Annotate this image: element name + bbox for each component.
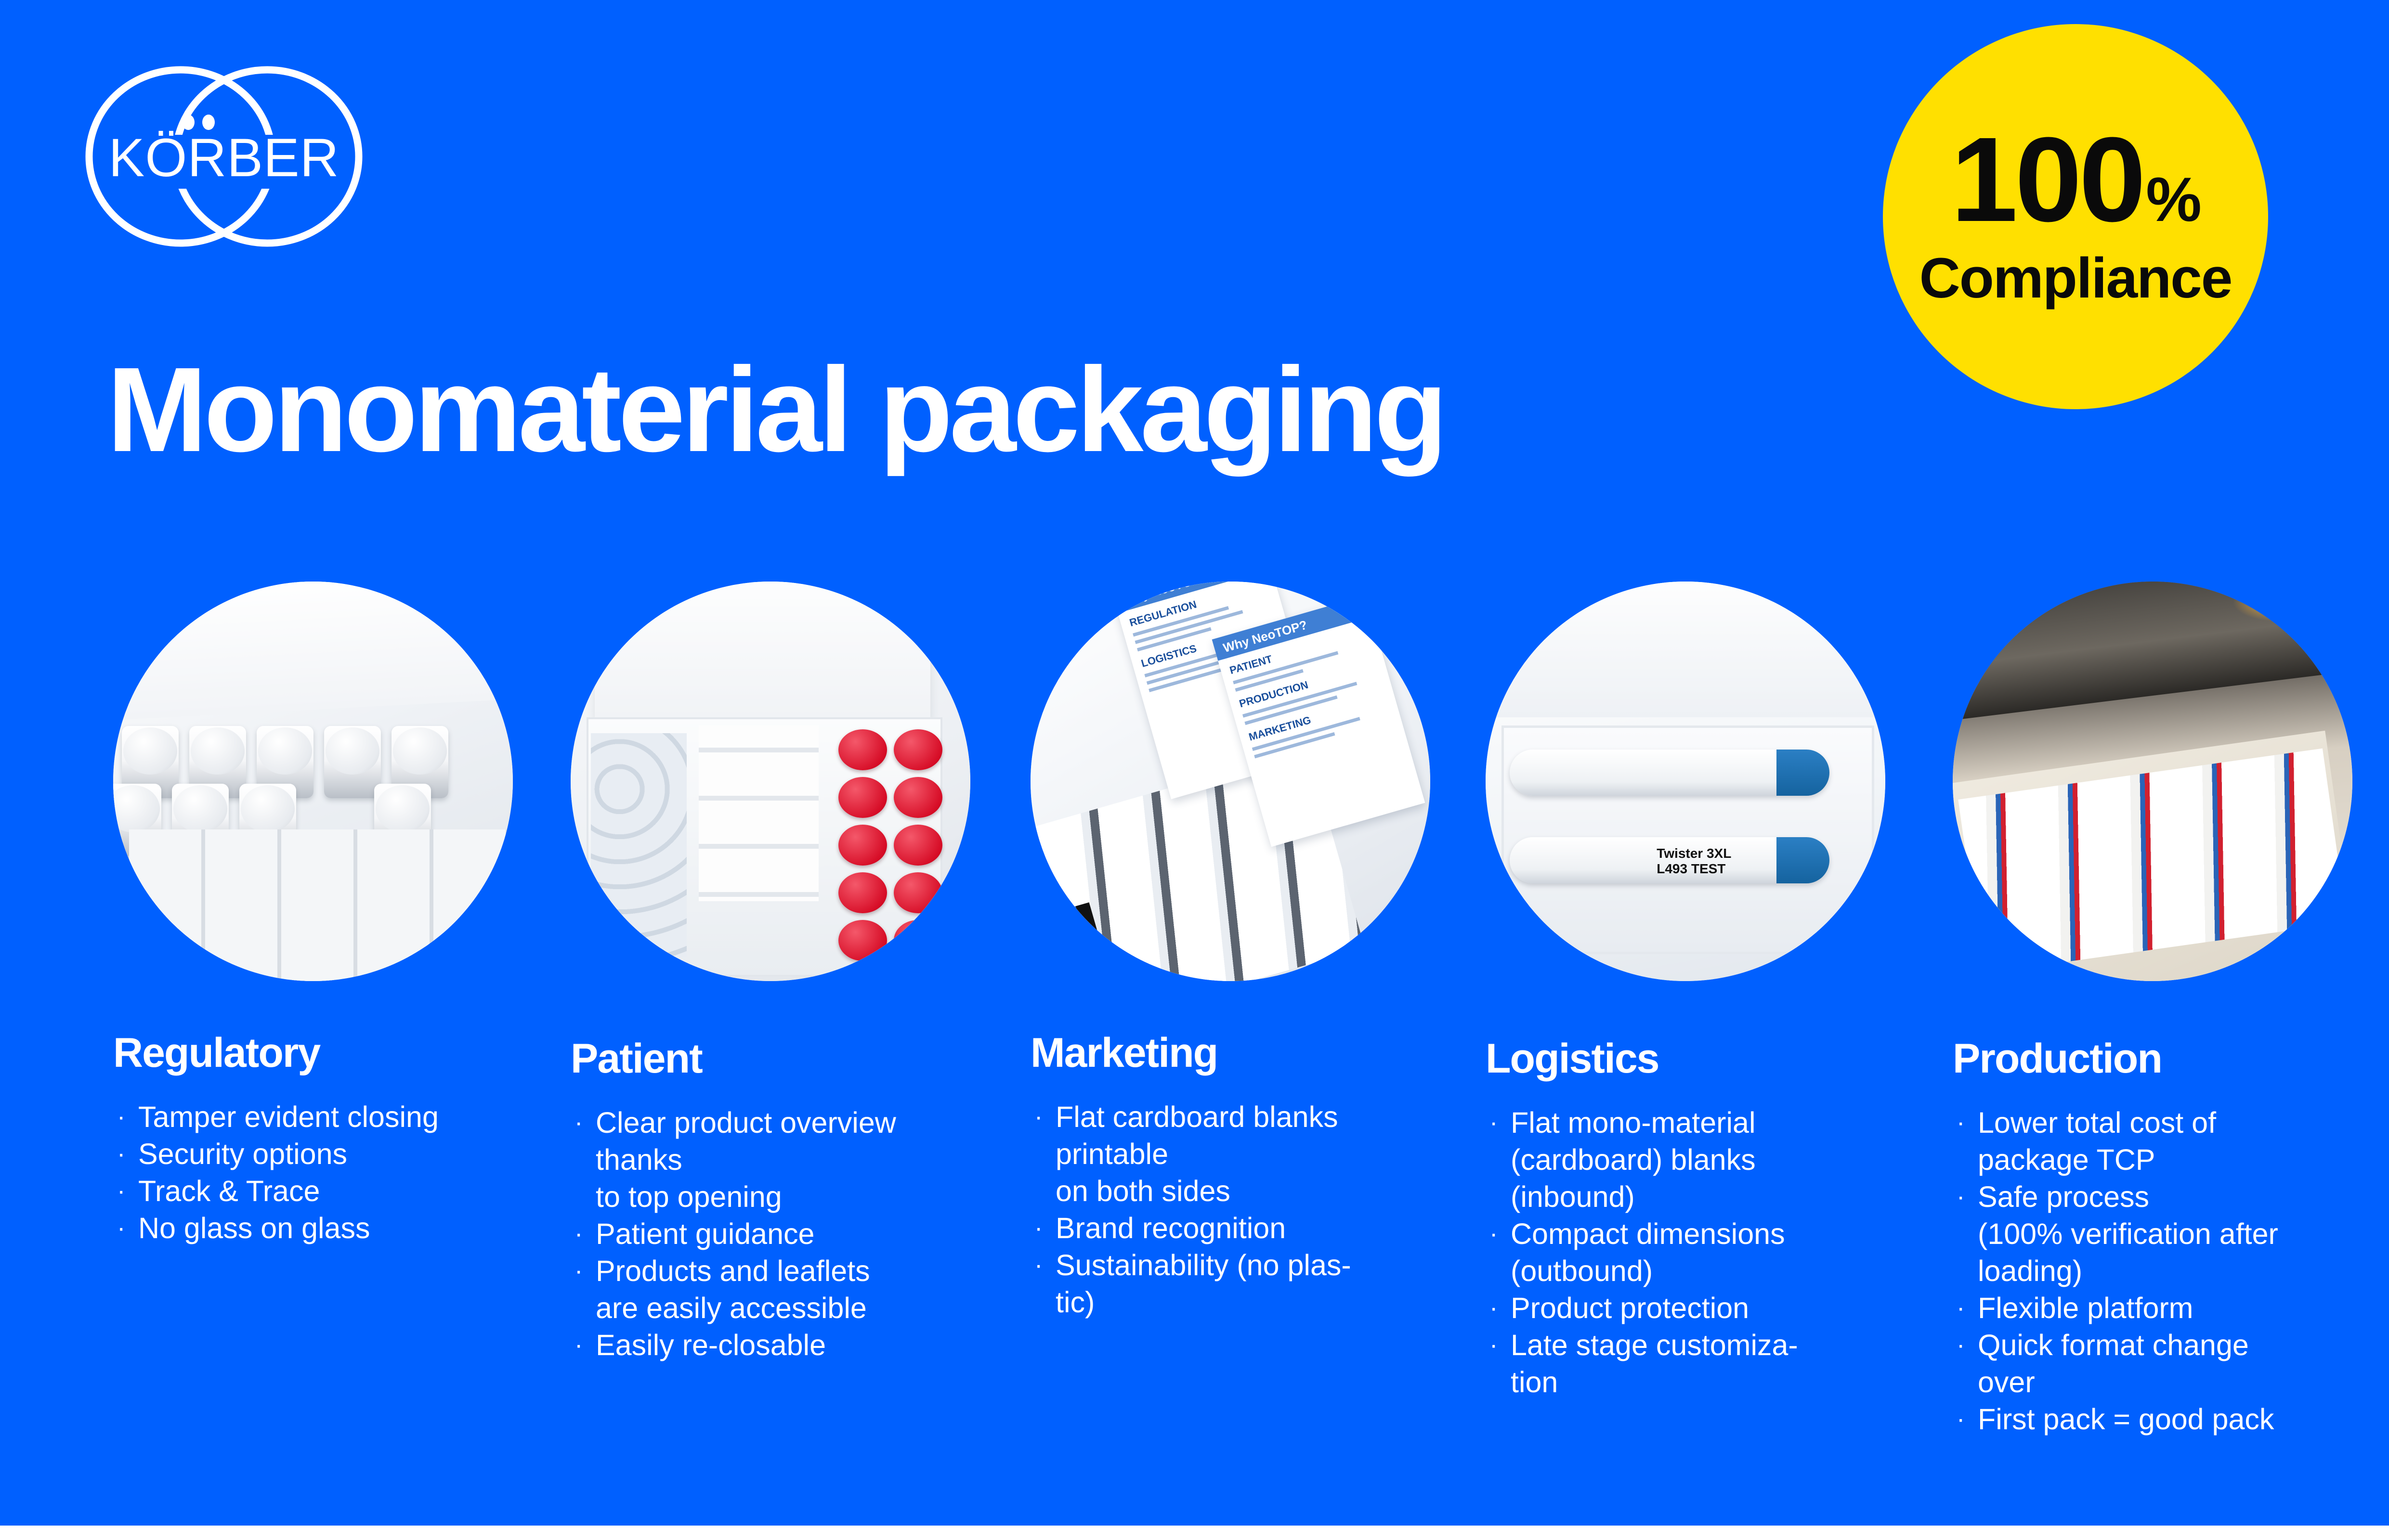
bullet-dot-icon: ·: [574, 1216, 583, 1253]
list-item-text: Products and leaflets are easily accessi…: [596, 1253, 985, 1327]
list-item: ·Flat cardboard blanks printable on both…: [1031, 1099, 1445, 1210]
bullet-dot-icon: ·: [1489, 1327, 1498, 1364]
list-item-text: Product protection: [1511, 1290, 1900, 1327]
list-item-text: Flexible platform: [1978, 1290, 2386, 1327]
blister-discs: [591, 733, 687, 957]
red-cap: [838, 872, 887, 913]
photo-printed-leaflet-box: Why NeoTOP? REGULATION LOGISTICS Why Neo…: [1031, 582, 1430, 981]
list-item: ·Brand recognition: [1031, 1210, 1445, 1247]
vial-cap: [376, 785, 430, 832]
bullet-dot-icon: ·: [117, 1173, 125, 1210]
photo-pen-injector-box: Twister 3XL L493 TEST: [1486, 582, 1885, 981]
list-item-text: Tamper evident closing: [138, 1099, 527, 1136]
list-item-text: Brand recognition: [1056, 1210, 1445, 1247]
photo-patient-kit: [571, 582, 970, 981]
list-item-text: Easily re-closable: [596, 1327, 985, 1364]
red-cap: [838, 825, 887, 866]
korber-logo: KÖRBER: [79, 63, 368, 250]
bullet-dot-icon: ·: [1957, 1401, 1965, 1438]
pen-label-line2: L493 TEST: [1657, 861, 1725, 877]
bullet-dot-icon: ·: [1489, 1216, 1498, 1253]
red-cap: [838, 920, 887, 961]
photo-production-line-scene: [1953, 582, 2352, 981]
vial-cap: [123, 727, 177, 775]
red-cap: [894, 777, 942, 818]
bullet-list-logistics: ·Flat mono-material (cardboard) blanks (…: [1486, 1104, 1900, 1401]
bullet-dot-icon: ·: [117, 1210, 125, 1247]
list-item-text: Flat cardboard blanks printable on both …: [1056, 1099, 1445, 1210]
list-item: ·Compact dimensions (outbound): [1486, 1216, 1900, 1290]
red-cap: [838, 777, 887, 818]
bullet-list-production: ·Lower total cost of package TCP ·Safe p…: [1953, 1104, 2386, 1438]
pen-cap: [1776, 750, 1829, 796]
photo-patient-kit-scene: [571, 582, 970, 981]
list-item-text: Compact dimensions (outbound): [1511, 1216, 1900, 1290]
badge-unit: %: [2146, 170, 2200, 230]
column-patient: Patient ·Clear product overview thanks t…: [571, 582, 985, 1364]
list-item: ·Product protection: [1486, 1290, 1900, 1327]
list-item: ·Products and leaflets are easily access…: [571, 1253, 985, 1327]
pen-box-lid: [1494, 582, 1878, 717]
bullet-list-patient: ·Clear product overview thanks to top op…: [571, 1104, 985, 1364]
photo-pen-injector-box-scene: Twister 3XL L493 TEST: [1486, 582, 1885, 981]
bullet-dot-icon: ·: [117, 1136, 125, 1173]
korber-logo-mark: KÖRBER: [79, 63, 368, 250]
badge-value: 100: [1951, 122, 2143, 237]
vial-cap: [173, 785, 227, 832]
column-heading-logistics: Logistics: [1486, 1038, 1900, 1079]
bullet-dot-icon: ·: [1957, 1327, 1965, 1364]
list-item-text: First pack = good pack: [1978, 1401, 2386, 1438]
bullet-list-marketing: ·Flat cardboard blanks printable on both…: [1031, 1099, 1445, 1321]
list-item-text: Security options: [138, 1136, 527, 1173]
list-item: ·Late stage customiza- tion: [1486, 1327, 1900, 1401]
pen-injector: Twister 3XL L493 TEST: [1510, 837, 1829, 883]
list-item-text: Clear product overview thanks to top ope…: [596, 1104, 985, 1216]
bullet-dot-icon: ·: [1957, 1290, 1965, 1327]
kit-lid: [595, 582, 930, 717]
list-item: ·Lower total cost of package TCP: [1953, 1104, 2386, 1178]
list-item-text: Safe process (100% verification after lo…: [1978, 1178, 2386, 1290]
list-item: ·Security options: [113, 1136, 527, 1173]
vial-cap: [393, 727, 447, 775]
vial-cap: [241, 785, 295, 832]
red-cap: [894, 872, 942, 913]
column-regulatory: Regulatory ·Tamper evident closing ·Secu…: [113, 582, 527, 1247]
bullet-dot-icon: ·: [574, 1104, 583, 1141]
list-item: ·Track & Trace: [113, 1173, 527, 1210]
list-item-text: Sustainability (no plas- tic): [1056, 1247, 1445, 1321]
column-heading-regulatory: Regulatory: [113, 1032, 527, 1074]
list-item: ·Clear product overview thanks to top op…: [571, 1104, 985, 1216]
list-item: ·Easily re-closable: [571, 1327, 985, 1364]
vial-cap: [258, 727, 312, 775]
column-production: Production ·Lower total cost of package …: [1953, 582, 2386, 1438]
pen-cap: [1776, 837, 1829, 883]
badge-label: Compliance: [1919, 246, 2232, 311]
bullet-dot-icon: ·: [574, 1253, 583, 1290]
bullet-dot-icon: ·: [1034, 1099, 1043, 1136]
column-heading-patient: Patient: [571, 1038, 985, 1079]
list-item: ·Sustainability (no plas- tic): [1031, 1247, 1445, 1321]
list-item-text: Patient guidance: [596, 1216, 985, 1253]
list-item: ·Flexible platform: [1953, 1290, 2386, 1327]
list-item-text: Late stage customiza- tion: [1511, 1327, 1900, 1401]
red-cap: [894, 920, 942, 961]
bullet-dot-icon: ·: [1489, 1290, 1498, 1327]
list-item: ·Patient guidance: [571, 1216, 985, 1253]
column-marketing: Why NeoTOP? REGULATION LOGISTICS Why Neo…: [1031, 582, 1445, 1321]
red-cap-vials: [838, 729, 942, 961]
korber-logo-text: KÖRBER: [109, 128, 339, 188]
list-item: ·First pack = good pack: [1953, 1401, 2386, 1438]
compliance-badge: 100% Compliance: [1883, 24, 2268, 409]
tray-lid: [113, 582, 513, 721]
bullet-dot-icon: ·: [1957, 1178, 1965, 1216]
photo-production-line: [1953, 582, 2352, 981]
vial-cap: [113, 785, 160, 832]
badge-value-row: 100%: [1951, 122, 2200, 237]
vial-cap: [326, 727, 379, 775]
syringes: [699, 725, 819, 901]
photo-printed-leaflet-box-scene: Why NeoTOP? REGULATION LOGISTICS Why Neo…: [1031, 582, 1430, 981]
list-item-text: Lower total cost of package TCP: [1978, 1104, 2386, 1178]
list-item-text: No glass on glass: [138, 1210, 527, 1247]
pen-injector: [1510, 750, 1829, 796]
column-heading-marketing: Marketing: [1031, 1032, 1445, 1074]
list-item: · No glass on glass: [113, 1210, 527, 1247]
bullet-dot-icon: ·: [1957, 1104, 1965, 1141]
red-cap: [894, 825, 942, 866]
page-title: Monomaterial packaging: [107, 347, 1444, 473]
list-item-text: Track & Trace: [138, 1173, 527, 1210]
bullet-dot-icon: ·: [1034, 1210, 1043, 1247]
list-item: ·Quick format change over: [1953, 1327, 2386, 1401]
list-item-text: Flat mono-material (cardboard) blanks (i…: [1511, 1104, 1900, 1216]
photo-vial-tray: [113, 582, 513, 981]
bullet-dot-icon: ·: [117, 1099, 125, 1136]
list-item: ·Safe process (100% verification after l…: [1953, 1178, 2386, 1290]
poster-canvas: KÖRBER 100% Compliance Monomaterial pack…: [0, 0, 2389, 1540]
photo-vial-tray-scene: [113, 582, 513, 981]
bottom-white-strip: [0, 1526, 2389, 1540]
bullet-list-regulatory: ·Tamper evident closing ·Security option…: [113, 1099, 527, 1247]
vial-cap: [191, 727, 245, 775]
bullet-dot-icon: ·: [1034, 1247, 1043, 1284]
list-item: ·Flat mono-material (cardboard) blanks (…: [1486, 1104, 1900, 1216]
machine-light-glow: [2232, 582, 2321, 621]
column-heading-production: Production: [1953, 1038, 2386, 1079]
red-cap: [838, 729, 887, 770]
list-item: ·Tamper evident closing: [113, 1099, 527, 1136]
bullet-dot-icon: ·: [1489, 1104, 1498, 1141]
list-item-text: Quick format change over: [1978, 1327, 2386, 1401]
tray-cell-grid: [129, 829, 513, 981]
red-cap: [894, 729, 942, 770]
pen-label-line1: Twister 3XL: [1657, 846, 1731, 861]
bullet-dot-icon: ·: [574, 1327, 583, 1364]
column-logistics: Twister 3XL L493 TEST Logistics ·Flat mo…: [1486, 582, 1900, 1401]
